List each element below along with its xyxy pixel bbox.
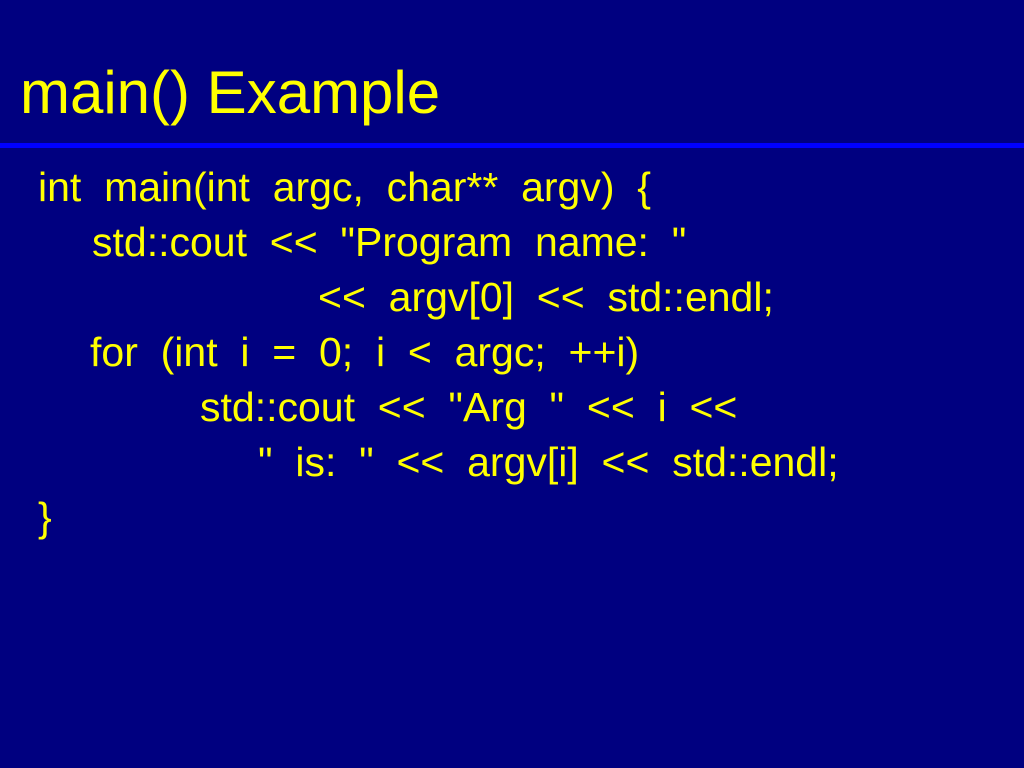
title-divider-rule bbox=[0, 143, 1024, 148]
code-line: " is: " << argv[i] << std::endl; bbox=[0, 435, 1024, 490]
code-block: int main(int argc, char** argv) { std::c… bbox=[0, 160, 1024, 545]
code-line: } bbox=[0, 490, 1024, 545]
slide-title-area: main() Example bbox=[0, 0, 1024, 145]
code-line: << argv[0] << std::endl; bbox=[0, 270, 1024, 325]
code-line: for (int i = 0; i < argc; ++i) bbox=[0, 325, 1024, 380]
code-line: std::cout << "Program name: " bbox=[0, 215, 1024, 270]
page-title: main() Example bbox=[20, 60, 440, 126]
code-line: std::cout << "Arg " << i << bbox=[0, 380, 1024, 435]
slide: main() Example int main(int argc, char**… bbox=[0, 0, 1024, 768]
code-line: int main(int argc, char** argv) { bbox=[0, 160, 1024, 215]
